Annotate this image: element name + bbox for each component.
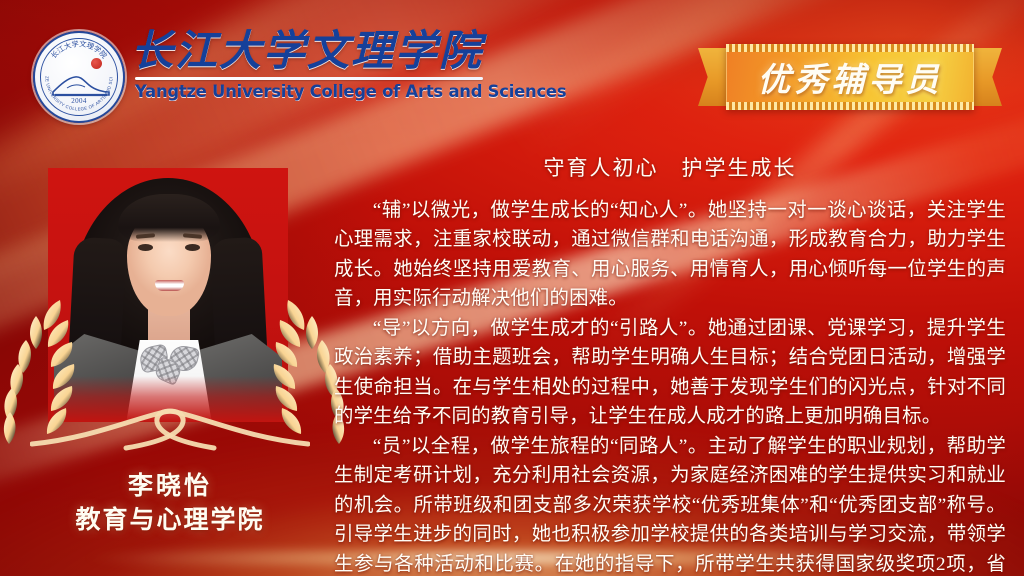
award-poster: 长江大学文理学院 YANGTZE UNIVERSITY COLLEGE OF A…: [0, 0, 1024, 576]
photo-eye-right: [185, 244, 200, 251]
photo-mouth: [155, 280, 184, 291]
portrait-area: [48, 168, 288, 422]
emblem-mountain-river-icon: [51, 73, 111, 99]
article-title: 守育人初心 护学生成长: [334, 152, 1006, 182]
article-paragraph-3: “员”以全程，做学生旅程的“同路人”。主动了解学生的职业规划，帮助学生制定考研计…: [334, 432, 1006, 576]
article-paragraph-1: “辅”以微光，做学生成长的“知心人”。她坚持一对一谈心谈话，关注学生心理需求，注…: [334, 196, 1006, 314]
award-title: 优秀辅导员: [726, 44, 974, 110]
counselor-photo: [48, 168, 288, 422]
article-paragraph-2: “导”以方向，做学生成才的“引路人”。她通过团课、党课学习，提升学生政治素养；借…: [334, 314, 1006, 432]
school-title-block: 长江大学文理学院 Yangtze University College of A…: [131, 30, 491, 101]
school-name-cn: 长江大学文理学院: [131, 30, 491, 74]
poster-header: 长江大学文理学院 YANGTZE UNIVERSITY COLLEGE OF A…: [0, 0, 1024, 128]
emblem-year: 2004: [35, 97, 123, 105]
school-emblem-icon: 长江大学文理学院 YANGTZE UNIVERSITY COLLEGE OF A…: [33, 31, 125, 123]
crossed-ribbon-icon: [30, 404, 310, 456]
photo-eye-left: [138, 244, 153, 251]
profile-caption: 李晓怡 教育与心理学院: [24, 470, 316, 538]
emblem-sun-icon: [91, 58, 102, 69]
svg-text:长江大学文理学院: 长江大学文理学院: [49, 39, 109, 60]
school-name-en: Yangtze University College of Arts and S…: [135, 82, 487, 101]
counselor-department: 教育与心理学院: [24, 504, 316, 538]
title-divider: [135, 77, 483, 80]
ribbon-body: 优秀辅导员: [726, 44, 974, 110]
counselor-name: 李晓怡: [24, 470, 316, 504]
article-body: 守育人初心 护学生成长 “辅”以微光，做学生成长的“知心人”。她坚持一对一谈心谈…: [334, 152, 1006, 576]
award-ribbon: 优秀辅导员: [704, 44, 996, 110]
